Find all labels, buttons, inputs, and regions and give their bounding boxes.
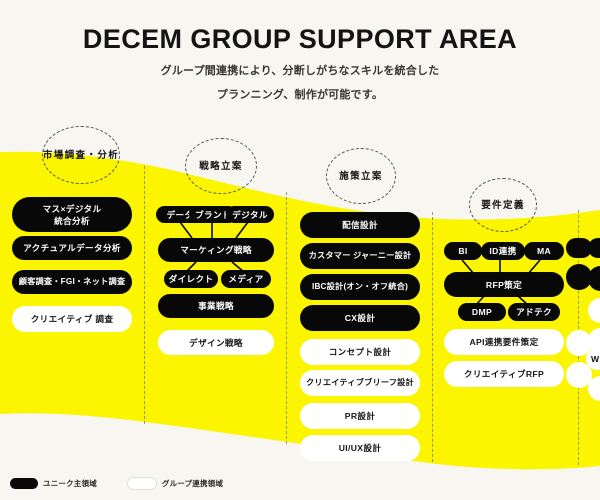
pill-label: ID連携 bbox=[489, 245, 516, 257]
legend-swatch-light-icon bbox=[127, 477, 157, 490]
column-divider-3 bbox=[432, 212, 433, 462]
pill-label: CX設計 bbox=[345, 312, 376, 324]
pill-label: アドテク bbox=[516, 306, 552, 318]
pill-label: IBC設計(オン・オフ統合) bbox=[312, 281, 408, 293]
pill-partial-3[interactable] bbox=[588, 298, 600, 323]
pill-creative-rfp[interactable]: クリエイティブRFP bbox=[444, 361, 564, 387]
pill-bi[interactable]: BI bbox=[444, 242, 482, 260]
pill-label: UI/UX設計 bbox=[339, 442, 382, 454]
pill-label: BI bbox=[458, 245, 467, 257]
pill-label: デジタル bbox=[232, 209, 268, 221]
pill-actual-data-analysis[interactable]: アクチュアルデータ分析 bbox=[12, 236, 132, 260]
pill-sliver-3 bbox=[566, 330, 592, 356]
pill-label: メディア bbox=[228, 273, 263, 285]
pill-label: 事業戦略 bbox=[198, 300, 234, 312]
pill-label: API連携要件策定 bbox=[469, 336, 538, 348]
pill-rfp-formulation[interactable]: RFP策定 bbox=[444, 272, 564, 297]
page-title: DECEM GROUP SUPPORT AREA bbox=[0, 22, 600, 56]
pill-label: 配信設計 bbox=[342, 219, 378, 231]
pill-sliver-1 bbox=[566, 238, 592, 258]
pill-label: クリエイティブ 調査 bbox=[31, 313, 114, 325]
pill-label: デザイン戦略 bbox=[189, 337, 243, 349]
pill-label: PR設計 bbox=[345, 410, 376, 422]
pill-label: アクチュアルデータ分析 bbox=[23, 242, 121, 254]
pill-direct[interactable]: ダイレクト bbox=[164, 270, 218, 288]
pill-dmp[interactable]: DMP bbox=[458, 303, 506, 321]
pill-cx-design[interactable]: CX設計 bbox=[300, 305, 420, 331]
pill-creative-research[interactable]: クリエイティブ 調査 bbox=[12, 306, 132, 332]
pill-design-strategy[interactable]: デザイン戦略 bbox=[158, 330, 274, 355]
pill-label: クリエイティブブリーフ設計 bbox=[306, 377, 414, 389]
pill-business-strategy[interactable]: 事業戦略 bbox=[158, 294, 274, 318]
column-heading-label: 施策立案 bbox=[339, 168, 383, 182]
pill-creative-brief-design[interactable]: クリエイティブブリーフ設計 bbox=[300, 370, 420, 396]
subtitle-line-1: グループ間連携により、分断しがちなスキルを統合した bbox=[0, 64, 600, 79]
column-heading-label: 市場調査・分析 bbox=[43, 147, 119, 161]
pill-concept-design[interactable]: コンセプト設計 bbox=[300, 339, 420, 365]
pill-id-linkage[interactable]: ID連携 bbox=[481, 242, 525, 260]
legend-swatch-dark-icon bbox=[10, 478, 38, 489]
pill-label: マーケィング戦略 bbox=[180, 244, 252, 256]
pill-api-requirements[interactable]: API連携要件策定 bbox=[444, 329, 564, 355]
column-heading-requirements-definition: 要件定義 bbox=[469, 178, 537, 232]
legend-item-group: グループ連携領域 bbox=[127, 477, 223, 490]
legend-label-unique: ユニーク主領域 bbox=[43, 478, 97, 489]
pill-sliver-2 bbox=[566, 264, 592, 290]
pill-ibc-design[interactable]: IBC設計(オン・オフ統合) bbox=[300, 274, 420, 300]
column-heading-label: 戦略立案 bbox=[199, 158, 243, 172]
pill-label: マス×デジタル 統合分析 bbox=[43, 203, 102, 227]
pill-label: RFP策定 bbox=[486, 279, 522, 291]
pill-label: ダイレクト bbox=[169, 273, 214, 285]
pill-ma[interactable]: MA bbox=[524, 242, 564, 260]
pill-pr-design[interactable]: PR設計 bbox=[300, 403, 420, 429]
column-divider-2 bbox=[286, 192, 287, 444]
pill-digital[interactable]: デジタル bbox=[226, 206, 274, 223]
infographic-canvas: DECEM GROUP SUPPORT AREA グループ間連携により、分断しが… bbox=[0, 0, 600, 500]
pill-customer-survey[interactable]: 顧客調査・FGI・ネット調査 bbox=[12, 270, 132, 294]
pill-delivery-design[interactable]: 配信設計 bbox=[300, 212, 420, 238]
pill-label: カスタマー ジャーニー設計 bbox=[309, 250, 412, 262]
pill-media[interactable]: メディア bbox=[221, 270, 271, 288]
column-heading-label: 要件定義 bbox=[481, 197, 525, 211]
pill-sliver-4 bbox=[566, 362, 592, 388]
pill-label: コンセプト設計 bbox=[329, 346, 392, 358]
column-divider-1 bbox=[144, 166, 145, 424]
pill-marketing-strategy[interactable]: マーケィング戦略 bbox=[158, 238, 274, 262]
pill-mass-digital-analysis[interactable]: マス×デジタル 統合分析 bbox=[12, 197, 132, 232]
pill-label: MA bbox=[537, 245, 551, 257]
column-heading-strategy-planning: 戦略立案 bbox=[185, 138, 257, 194]
subtitle-line-2: プランニング、制作が可能です。 bbox=[0, 88, 600, 103]
pill-label: 顧客調査・FGI・ネット調査 bbox=[19, 276, 126, 288]
pill-label: クリエイティブRFP bbox=[464, 368, 544, 380]
pill-customer-journey-design[interactable]: カスタマー ジャーニー設計 bbox=[300, 243, 420, 269]
column-heading-measure-planning: 施策立案 bbox=[326, 148, 396, 204]
pill-label: WE bbox=[591, 353, 600, 365]
pill-ui-ux-design[interactable]: UI/UX設計 bbox=[300, 435, 420, 461]
legend-item-unique: ユニーク主領域 bbox=[10, 478, 97, 489]
column-heading-market-research: 市場調査・分析 bbox=[42, 126, 120, 184]
legend-label-group: グループ連携領域 bbox=[162, 478, 223, 489]
pill-label: DMP bbox=[472, 306, 492, 318]
pill-adtech[interactable]: アドテク bbox=[508, 303, 560, 321]
legend: ユニーク主領域 グループ連携領域 bbox=[10, 477, 223, 490]
